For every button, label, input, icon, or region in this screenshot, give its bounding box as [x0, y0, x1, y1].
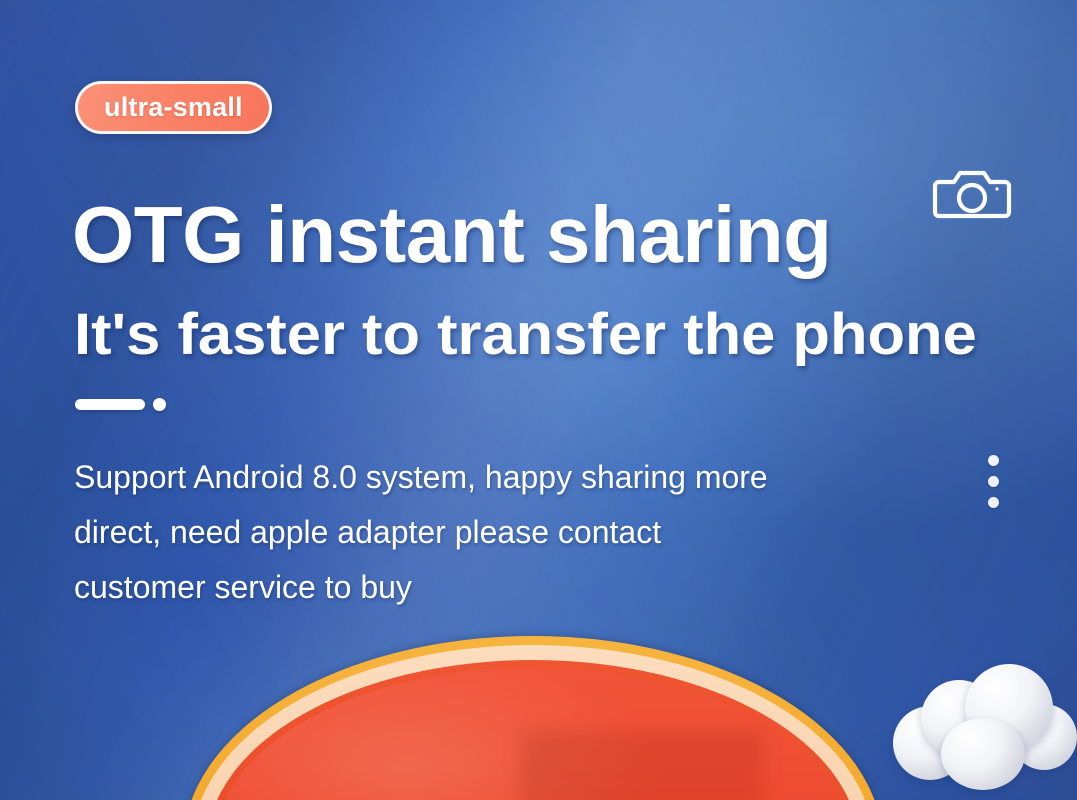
description-line: direct, need apple adapter please contac…: [74, 505, 904, 560]
divider-dot: [153, 398, 166, 411]
badge-label: ultra-small: [104, 92, 243, 123]
red-disc-product: [183, 636, 883, 800]
page-subtitle: It's faster to transfer the phone: [74, 306, 977, 364]
disc-inner-shadow: [520, 731, 762, 800]
kebab-dot: [988, 455, 999, 466]
cloud-spheres: [893, 662, 1077, 800]
kebab-dot: [988, 476, 999, 487]
kebab-dot: [988, 497, 999, 508]
description-line: customer service to buy: [74, 560, 904, 615]
cloud-sphere: [941, 718, 1025, 790]
page-title: OTG instant sharing: [72, 195, 831, 275]
description-text: Support Android 8.0 system, happy sharin…: [74, 450, 904, 615]
camera-icon: [932, 165, 1012, 225]
divider-bar: [75, 399, 145, 410]
description-line: Support Android 8.0 system, happy sharin…: [74, 450, 904, 505]
kebab-menu-icon[interactable]: [988, 455, 999, 508]
divider: [75, 398, 166, 411]
ultra-small-badge: ultra-small: [75, 81, 272, 134]
otg-promo-banner: ultra-small OTG instant sharing It's fas…: [0, 0, 1077, 800]
